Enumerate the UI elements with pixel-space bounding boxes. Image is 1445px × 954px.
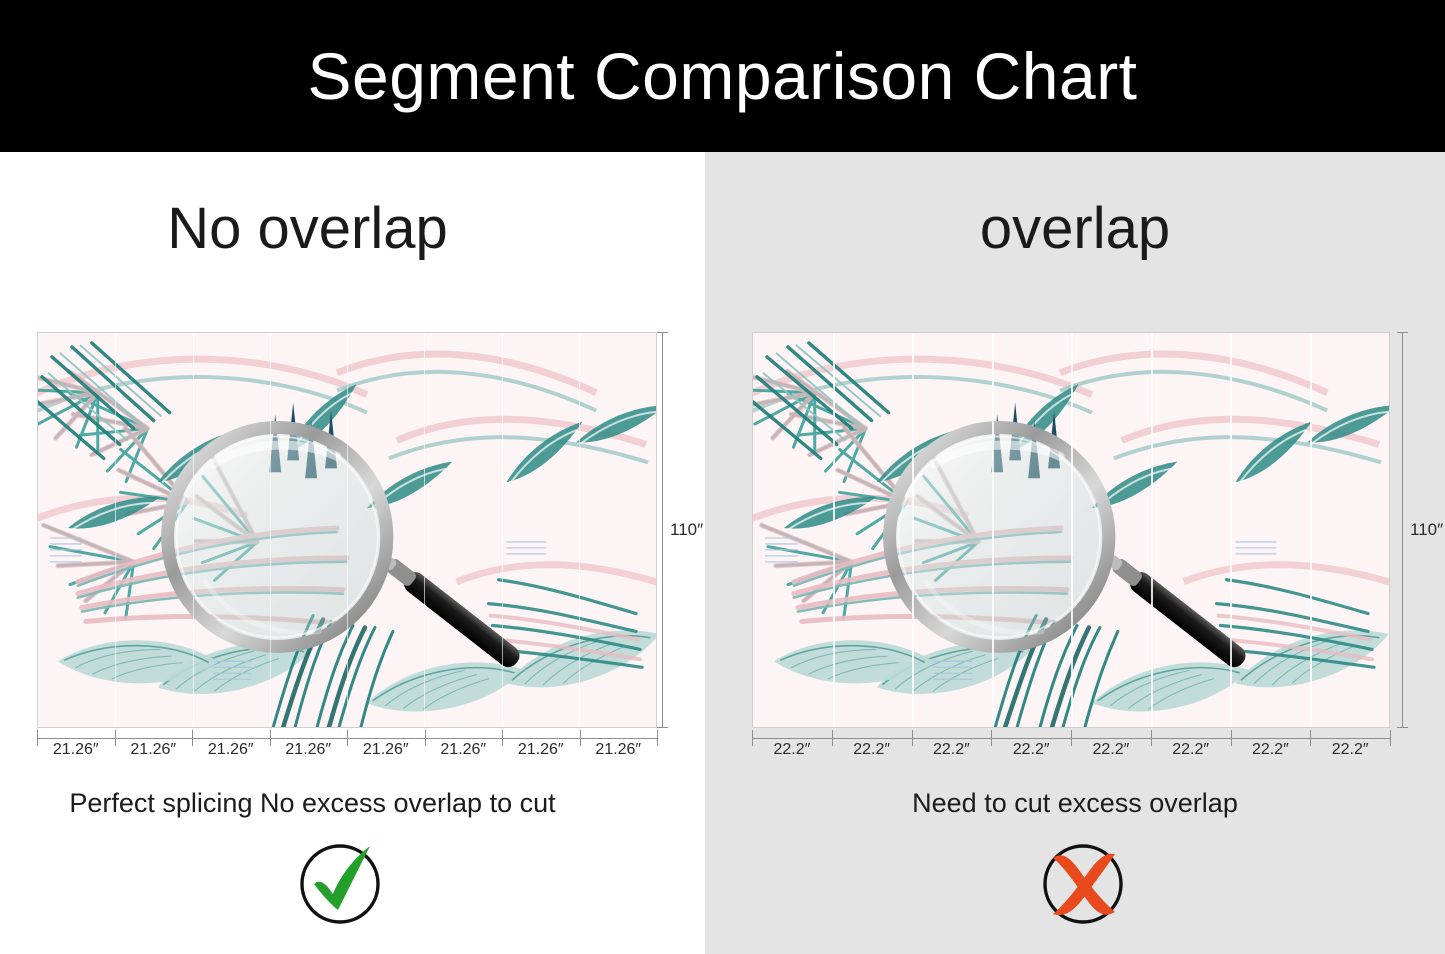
caption-overlap: Need to cut excess overlap <box>705 788 1445 819</box>
caption-no-overlap: Perfect splicing No excess overlap to cu… <box>0 788 665 819</box>
segment-label: 21.26″ <box>270 741 348 759</box>
wallpaper-preview-no-overlap <box>37 332 657 728</box>
segment-label: 22.2″ <box>832 741 912 759</box>
panel-no-overlap: No overlap <box>0 152 705 954</box>
segment-label: 21.26″ <box>502 741 580 759</box>
segment-label: 22.2″ <box>1071 741 1151 759</box>
segment-label: 21.26″ <box>37 741 115 759</box>
height-dimension-line-no-overlap <box>662 332 663 728</box>
panel-heading-no-overlap: No overlap <box>0 200 660 258</box>
panel-heading-overlap: overlap <box>705 200 1445 258</box>
segment-label: 22.2″ <box>752 741 832 759</box>
segment-label: 21.26″ <box>580 741 658 759</box>
wallpaper-image-overlap <box>752 332 1390 728</box>
segment-label: 22.2″ <box>1231 741 1311 759</box>
segment-label: 21.26″ <box>192 741 270 759</box>
title-banner: Segment Comparison Chart <box>0 0 1445 152</box>
segment-label: 22.2″ <box>1310 741 1390 759</box>
height-dimension-line-overlap <box>1402 332 1403 728</box>
segment-label: 22.2″ <box>1151 741 1231 759</box>
segment-label: 21.26″ <box>115 741 193 759</box>
cross-circle-icon <box>1035 834 1131 930</box>
width-ruler-no-overlap: 21.26″ 21.26″ 21.26″ 21.26″ 21.26″ 21.26… <box>37 730 657 762</box>
wallpaper-image-no-overlap <box>37 332 657 728</box>
segment-label: 21.26″ <box>347 741 425 759</box>
width-ruler-overlap: 22.2″ 22.2″ 22.2″ 22.2″ 22.2″ 22.2″ 22.2… <box>752 730 1390 762</box>
check-circle-icon <box>292 834 388 930</box>
segment-label: 21.26″ <box>425 741 503 759</box>
segment-label: 22.2″ <box>912 741 992 759</box>
panel-overlap: overlap <box>705 152 1445 954</box>
seam-lines-overlap <box>753 333 1389 727</box>
wallpaper-preview-overlap <box>752 332 1390 728</box>
page-title: Segment Comparison Chart <box>307 43 1137 109</box>
segment-label: 22.2″ <box>991 741 1071 759</box>
seam-lines-no-overlap <box>38 333 656 727</box>
height-label-overlap: 110″ <box>1410 520 1443 540</box>
height-label-no-overlap: 110″ <box>670 520 703 540</box>
